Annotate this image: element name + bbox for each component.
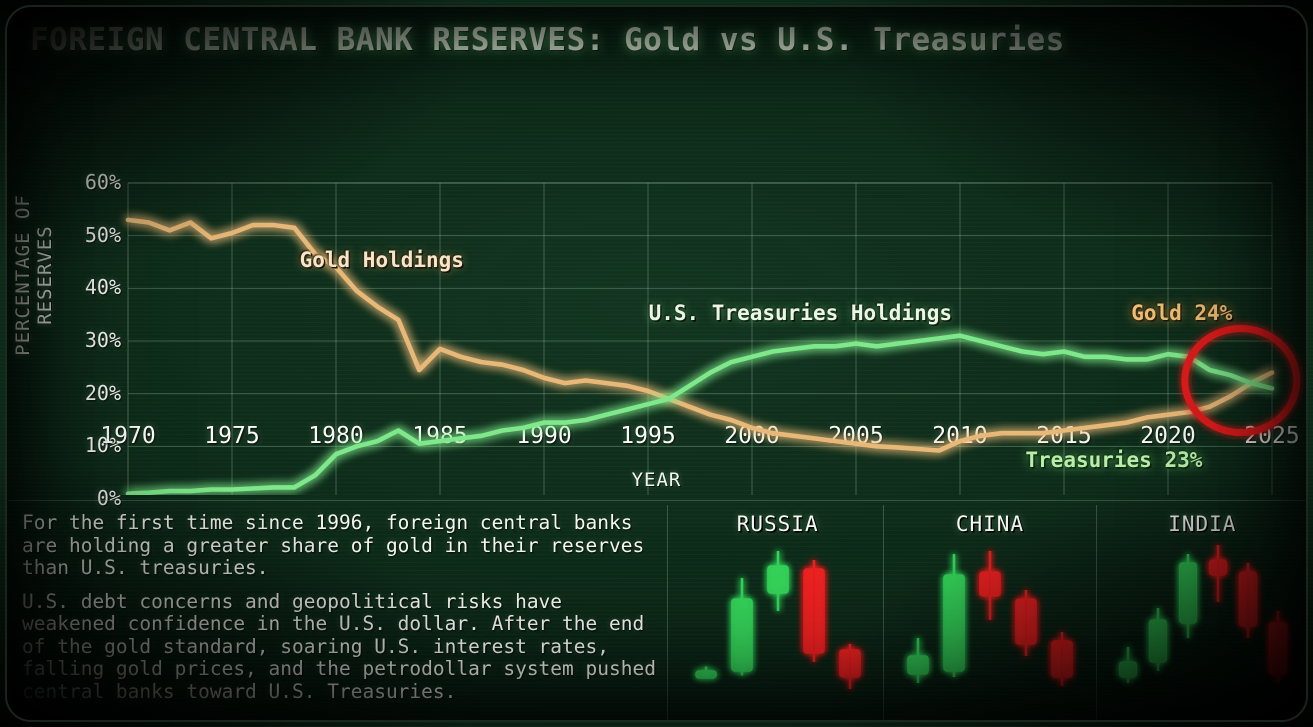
candle-panel-china: CHINA [883,505,1095,720]
candlestick-up [1149,608,1166,671]
candle-body [696,671,716,678]
candle-body [908,656,928,674]
candlestick-down [804,560,824,662]
candlestick-up [1119,647,1136,683]
candle-body [980,572,1000,596]
candlestick-down [1052,632,1072,686]
candlestick-up [696,667,716,679]
candlestick-chart [672,531,884,709]
candle-body [1149,620,1166,662]
candlestick-down [1209,545,1226,602]
candle-panel-india: INDIA [1096,505,1308,720]
candle-body [1119,662,1136,677]
candlestick-down [840,644,860,689]
commentary-paragraph-2: U.S. debt concerns and geopolitical risk… [22,591,662,704]
candlestick-panels: RUSSIACHINAINDIA [672,505,1308,720]
candle-body [840,650,860,677]
candlestick-down [1269,611,1286,683]
candle-body [1209,560,1226,575]
treasuries-series-label: U.S. Treasuries Holdings [649,301,952,325]
treasuries-callout: Treasuries 23% [1025,448,1202,472]
panel-divider-vertical [667,505,668,720]
candlestick-chart [1097,531,1309,709]
candlestick-up [908,638,928,683]
gold-series-label: Gold Holdings [300,248,464,272]
candlestick-up [768,551,788,611]
candle-body [1239,572,1256,626]
commentary-paragraph-1: For the first time since 1996, foreign c… [22,512,662,580]
candle-body [1052,641,1072,677]
candle-body [768,566,788,593]
candle-body [1179,563,1196,623]
candlestick-down [980,551,1000,620]
candle-body [804,569,824,653]
gold-callout: Gold 24% [1131,301,1232,325]
line-chart: PERCENTAGE OF RESERVES YEAR 0%10%20%30%4… [0,75,1313,495]
commentary-panel: For the first time since 1996, foreign c… [22,512,662,714]
candle-body [944,575,964,671]
candle-body [1016,599,1036,644]
candlestick-down [1016,590,1036,656]
candle-body [732,599,752,671]
panel-divider [8,500,1305,501]
candlestick-down [1239,563,1256,638]
page-title: FOREIGN CENTRAL BANK RESERVES: Gold vs U… [30,22,1065,58]
candlestick-up [944,554,964,677]
candlestick-up [732,578,752,676]
candlestick-chart [884,531,1096,709]
infographic-screen: FOREIGN CENTRAL BANK RESERVES: Gold vs U… [0,0,1313,727]
candle-body [1269,623,1286,674]
plot-canvas [0,75,1313,495]
candle-panel-russia: RUSSIA [672,505,883,720]
candlestick-up [1179,554,1196,638]
